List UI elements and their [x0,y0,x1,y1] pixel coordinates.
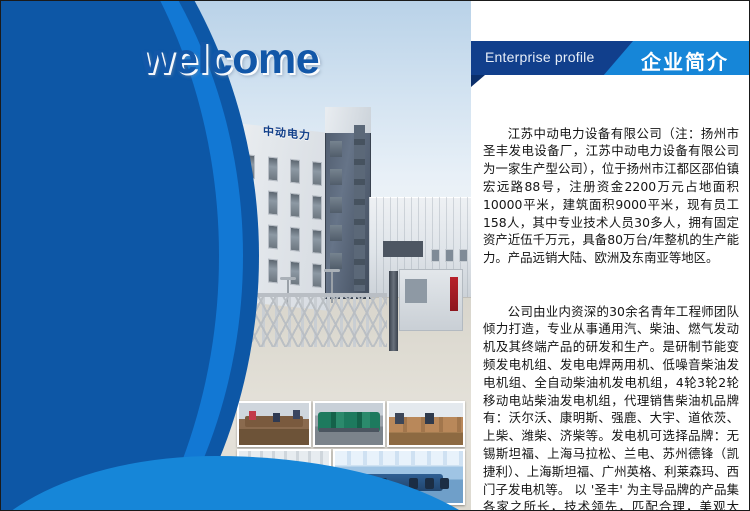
panel-top-spacer [471,1,750,41]
gate-post [389,271,398,351]
company-profile-text: 江苏中动电力设备有限公司（注：扬州市圣丰发电设备厂，江苏中动电力设备有限公司为一… [483,89,739,511]
meeting-room-photo [239,403,309,445]
generator-assembly-photo [315,403,383,445]
list-item[interactable] [313,401,385,447]
profile-panel: Enterprise profile 企业简介 江苏中动电力设备有限公司（注：扬… [471,1,750,510]
ribbon-chinese-label: 企业简介 [641,46,729,75]
company-profile-page: 中动电力 江苏中动电力设备有限公司 Jiangsu Zhongdong Powe… [0,0,750,511]
section-header-ribbon: Enterprise profile 企业简介 [471,41,750,75]
list-item[interactable] [237,401,311,447]
profile-paragraph-2: 公司由业内资深的30余名青年工程师团队倾力打造，专业从事通用汽、柴油、燃气发动机… [483,303,739,511]
guard-house [399,269,463,331]
ribbon-tail-notch [471,75,485,87]
hero-photo-panel: 中动电力 江苏中动电力设备有限公司 Jiangsu Zhongdong Powe… [1,1,471,510]
ribbon-english-label: Enterprise profile [485,49,594,65]
page-title: welcome [141,35,319,84]
list-item[interactable] [387,401,465,447]
reception-office-photo [389,403,463,445]
profile-paragraph-1: 江苏中动电力设备有限公司（注：扬州市圣丰发电设备厂，江苏中动电力设备有限公司为一… [483,125,739,267]
